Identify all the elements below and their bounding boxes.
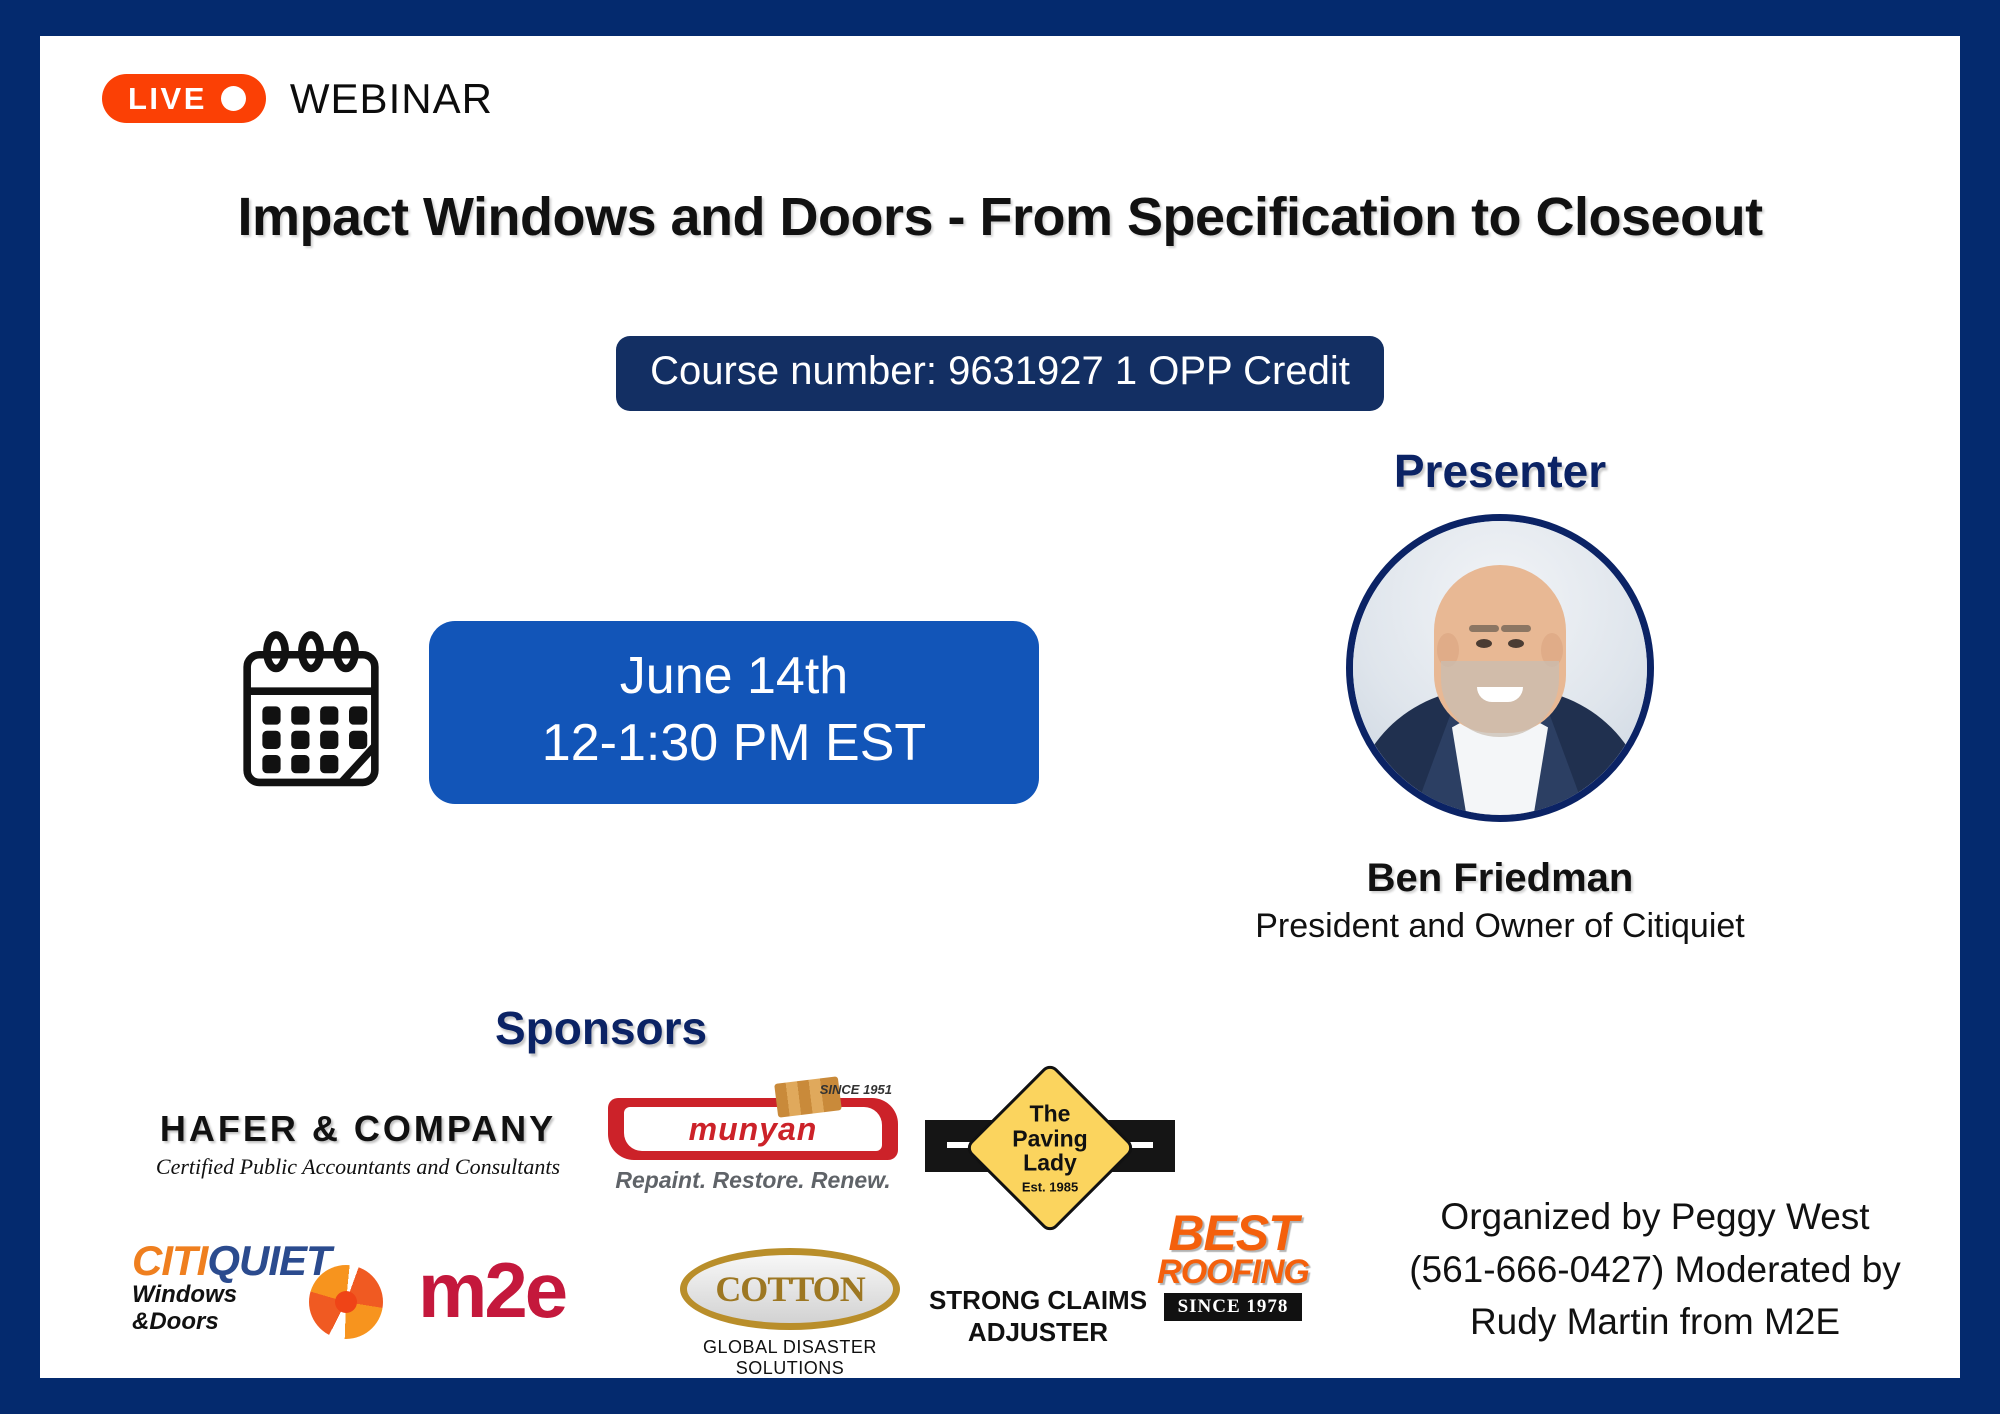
best-roofing-line1: BEST [1138, 1211, 1328, 1256]
presenter-name: Ben Friedman [1220, 856, 1780, 901]
citiquiet-part2: QUIET [207, 1237, 330, 1284]
hafer-tagline: Certified Public Accountants and Consult… [128, 1154, 588, 1180]
sponsor-logo-cotton: COTTON GLOBAL DISASTER SOLUTIONS [670, 1248, 910, 1378]
sponsor-logo-m2e: m2e [418, 1251, 565, 1329]
best-roofing-since: SINCE 1978 [1164, 1293, 1303, 1321]
cotton-tagline: GLOBAL DISASTER SOLUTIONS [670, 1337, 910, 1378]
sponsor-logo-best-roofing: BEST ROOFING SINCE 1978 [1138, 1211, 1328, 1321]
paving-line2: Paving [980, 1126, 1120, 1151]
event-date-block: June 14th 12-1:30 PM EST [235, 621, 1039, 804]
presenter-role: President and Owner of Citiquiet [1220, 907, 1780, 946]
webinar-label: WEBINAR [290, 75, 493, 123]
calendar-icon [235, 630, 387, 795]
sponsor-logo-strong-claims: STRONG CLAIMS ADJUSTER [918, 1284, 1158, 1348]
cotton-oval: COTTON [680, 1248, 900, 1330]
course-badge-container: Course number: 9631927 1 OPP Credit [40, 336, 1960, 411]
event-time: 12-1:30 PM EST [481, 710, 987, 777]
munyan-tagline: Repaint. Restore. Renew. [608, 1167, 898, 1194]
presenter-heading: Presenter [1220, 444, 1780, 498]
organizer-line2: (561-666-0427) Moderated by [1350, 1244, 1960, 1297]
organizer-line1: Organized by Peggy West [1350, 1191, 1960, 1244]
best-roofing-line2: ROOFING [1138, 1256, 1328, 1288]
sponsors-heading: Sponsors [495, 1001, 707, 1055]
presenter-avatar [1346, 514, 1654, 822]
sponsor-logo-citiquiet: CITIQUIET Windows &Doors [132, 1241, 377, 1334]
hurricane-swirl-icon [309, 1265, 383, 1339]
paving-est: Est. 1985 [980, 1180, 1120, 1194]
munyan-name: munyan [689, 1111, 818, 1148]
organizer-info: Organized by Peggy West (561-666-0427) M… [1350, 1191, 1960, 1349]
sponsor-logo-hafer: HAFER & COMPANY Certified Public Account… [128, 1108, 588, 1180]
page-title: Impact Windows and Doors - From Specific… [40, 186, 1960, 248]
organizer-line3: Rudy Martin from M2E [1350, 1296, 1960, 1349]
event-datetime-button[interactable]: June 14th 12-1:30 PM EST [429, 621, 1039, 804]
citiquiet-part1: CITI [132, 1237, 207, 1284]
strong-claims-line1: STRONG CLAIMS [918, 1284, 1158, 1316]
course-number-badge: Course number: 9631927 1 OPP Credit [616, 336, 1384, 411]
live-badge: LIVE [102, 74, 266, 123]
live-webinar-header: LIVE WEBINAR [102, 74, 493, 123]
strong-claims-line2: ADJUSTER [918, 1316, 1158, 1348]
sponsor-logo-munyan: munyan SINCE 1951 Repaint. Restore. Rene… [608, 1098, 898, 1194]
poster-canvas: LIVE WEBINAR Impact Windows and Doors - … [40, 36, 1960, 1378]
hafer-name: HAFER & COMPANY [128, 1108, 588, 1150]
sponsor-logo-paving-lady: The Paving Lady Est. 1985 [925, 1068, 1175, 1228]
webinar-poster: LIVE WEBINAR Impact Windows and Doors - … [0, 0, 2000, 1414]
paving-line1: The [980, 1102, 1120, 1127]
cotton-name: COTTON [715, 1268, 864, 1310]
event-date: June 14th [481, 643, 987, 710]
munyan-since: SINCE 1951 [820, 1082, 892, 1097]
presenter-section: Presenter Ben Friedman President and Ow [1220, 444, 1780, 946]
live-dot-icon [221, 86, 246, 111]
munyan-banner: munyan SINCE 1951 [608, 1098, 898, 1160]
live-badge-label: LIVE [128, 83, 207, 114]
paving-line3: Lady [980, 1151, 1120, 1176]
